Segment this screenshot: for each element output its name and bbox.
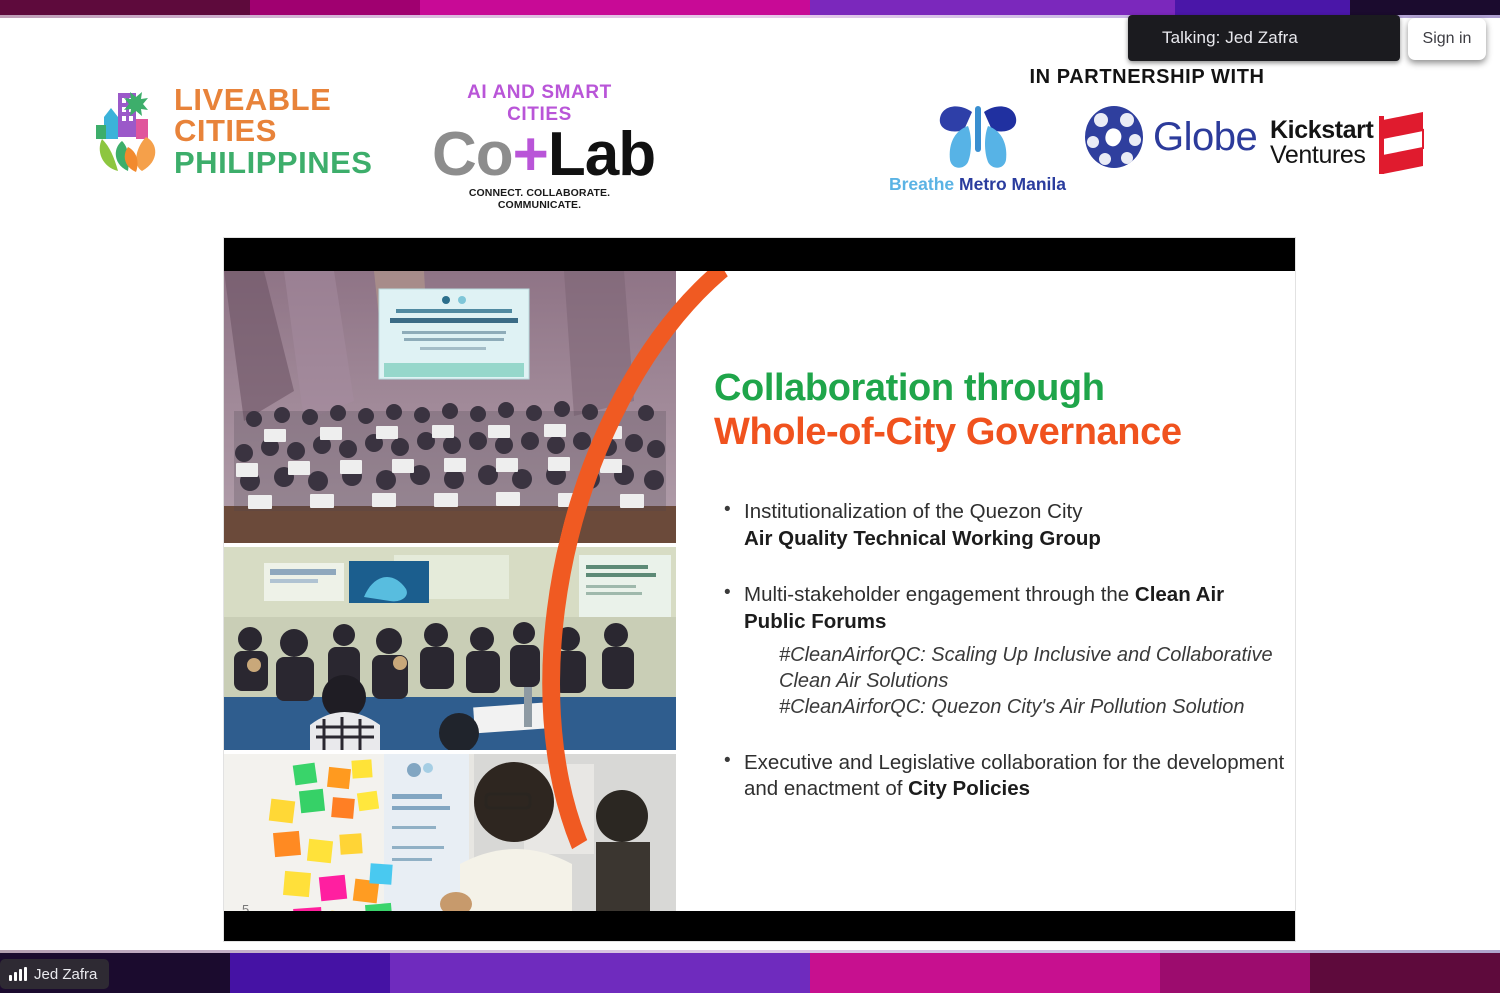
app-window: Talking: Jed Zafra Sign in [0, 0, 1500, 993]
butterfly-lungs-icon [928, 100, 1028, 172]
top-bar-segment-4 [810, 0, 1175, 15]
top-bar-segment-1 [0, 0, 250, 15]
active-speaker-chip[interactable]: Jed Zafra [0, 959, 109, 989]
bmm-word1: Breathe [889, 174, 954, 194]
photo-conference-audience [224, 547, 676, 750]
colab-wordmark: Co+Lab [432, 126, 647, 185]
signal-bars-icon [9, 967, 27, 981]
colab-plus-icon: + [513, 120, 548, 189]
active-speaker-name: Jed Zafra [34, 966, 97, 983]
bullet-1-bold: Air Quality Technical Working Group [744, 527, 1101, 550]
liveable-cities-line1: LIVEABLE CITIES [174, 84, 412, 147]
kickstart-line1: Kickstart [1270, 118, 1373, 144]
slide-title-line2: Whole-of-City Governance [714, 410, 1284, 454]
sign-in-button[interactable]: Sign in [1408, 18, 1486, 60]
sign-in-label: Sign in [1423, 30, 1472, 48]
globe-wordmark: Globe [1153, 115, 1257, 160]
partner-header: LIVEABLE CITIES PHILIPPINES AI AND SMART… [0, 60, 1500, 210]
bmm-word2: Metro Manila [959, 174, 1066, 194]
bottom-bar-segment-6 [1310, 953, 1500, 993]
partnership-label: IN PARTNERSHIP WITH [1029, 66, 1264, 89]
bullet-3-bold: City Policies [908, 777, 1030, 800]
kickstart-line2: Ventures [1270, 143, 1373, 169]
bottom-bar-segment-4 [810, 953, 1160, 993]
bullet-item-1: Institutionalization of the Quezon City … [714, 499, 1289, 552]
top-bar-segment-5 [1175, 0, 1350, 15]
bullet-2-sub-1: #CleanAirforQC: Scaling Up Inclusive and… [779, 642, 1289, 694]
globe-circle-icon [1085, 106, 1143, 168]
bullet-2-lead: Multi-stakeholder engagement through the [744, 583, 1135, 606]
colab-logo: AI AND SMART CITIES Co+Lab CONNECT. COLL… [432, 82, 647, 182]
bottom-color-bar [0, 953, 1500, 993]
bullet-item-2: Multi-stakeholder engagement through the… [714, 582, 1289, 719]
slide-title-line1: Collaboration through [714, 366, 1284, 410]
talking-indicator: Talking: Jed Zafra [1128, 15, 1400, 61]
breathe-metro-manila-label: Breathe Metro Manila [880, 174, 1075, 195]
slide-photo-column: 5 [224, 271, 676, 911]
slide-bullet-list: Institutionalization of the Quezon City … [714, 499, 1289, 803]
top-color-bar [0, 0, 1500, 15]
colab-co: Co [432, 120, 513, 189]
svg-text:5: 5 [242, 902, 249, 911]
bottom-bar-segment-3 [390, 953, 810, 993]
top-bar-segment-6 [1350, 0, 1500, 15]
bullet-item-3: Executive and Legislative collaboration … [714, 750, 1289, 803]
bullet-2-sub-2: #CleanAirforQC: Quezon City's Air Pollut… [779, 694, 1289, 720]
colab-tagline-bottom: CONNECT. COLLABORATE. COMMUNICATE. [432, 187, 647, 211]
bottom-bar-segment-2 [230, 953, 390, 993]
liveable-cities-line2: PHILIPPINES [174, 147, 412, 179]
red-flag-icon [1379, 112, 1425, 174]
photo-sticky-note-wall: 5 [224, 754, 676, 911]
colab-lab: Lab [548, 120, 655, 189]
partner-logo-row: Breathe Metro Manila Globe [880, 100, 1440, 205]
bullet-1-lead: Institutionalization of the Quezon City [744, 500, 1082, 523]
talking-indicator-label: Talking: Jed Zafra [1162, 28, 1298, 48]
slide-letterbox-bottom [224, 911, 1295, 941]
globe-logo: Globe [1085, 106, 1257, 168]
top-bar-segment-2 [250, 0, 420, 15]
kickstart-ventures-logo: Kickstart Ventures [1270, 112, 1425, 174]
top-bar-segment-3 [420, 0, 810, 15]
slide-text-column: Collaboration through Whole-of-City Gove… [700, 271, 1295, 911]
slide-title: Collaboration through Whole-of-City Gove… [714, 366, 1284, 454]
slide-content: 5 Collaboration through Whole-of-City Go… [224, 271, 1295, 911]
liveable-cities-logo: LIVEABLE CITIES PHILIPPINES [92, 86, 412, 176]
bottom-bar-segment-5 [1160, 953, 1310, 993]
presentation-slide[interactable]: 5 Collaboration through Whole-of-City Go… [224, 238, 1295, 941]
slide-letterbox-top [224, 238, 1295, 271]
breathe-metro-manila-logo: Breathe Metro Manila [880, 100, 1075, 205]
photo-group-forum [224, 271, 676, 543]
city-hand-leaf-icon [92, 89, 166, 173]
